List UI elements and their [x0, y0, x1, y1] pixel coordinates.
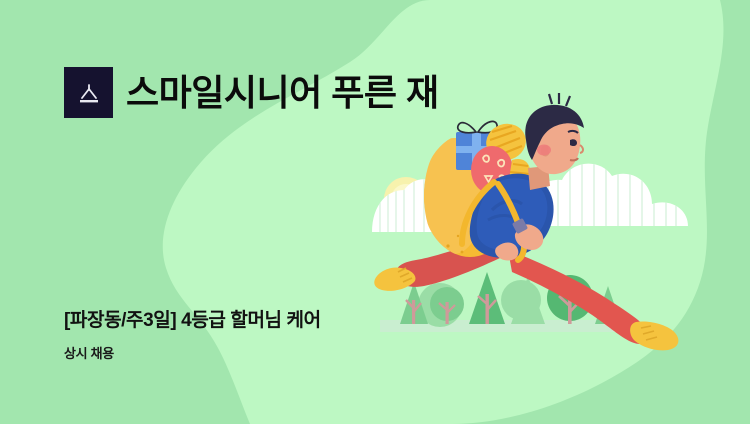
job-posting-status: 상시 채용 [64, 343, 114, 362]
gift-ball-yellow [481, 119, 530, 166]
runner-figure [374, 93, 678, 350]
header-row: 스마일시니어 푸른 재 [64, 67, 439, 118]
tree-row [400, 272, 621, 327]
sun [384, 177, 428, 221]
gift-sack [424, 135, 516, 257]
cloud-left [372, 174, 466, 240]
ground-strip [380, 320, 630, 332]
job-posting-title: [파장동/주3일] 4등급 할머님 케어 [64, 305, 321, 332]
job-posting-card: 스마일시니어 푸른 재 [파장동/주3일] 4등급 할머님 케어 상시 채용 [0, 0, 750, 424]
gift-ball-red [471, 146, 513, 194]
cloud-right [520, 150, 688, 240]
gift-box-blue [456, 121, 498, 170]
smile-senior-logo-mark-icon [64, 67, 113, 118]
organization-title: 스마일시니어 푸른 재 [126, 75, 439, 111]
